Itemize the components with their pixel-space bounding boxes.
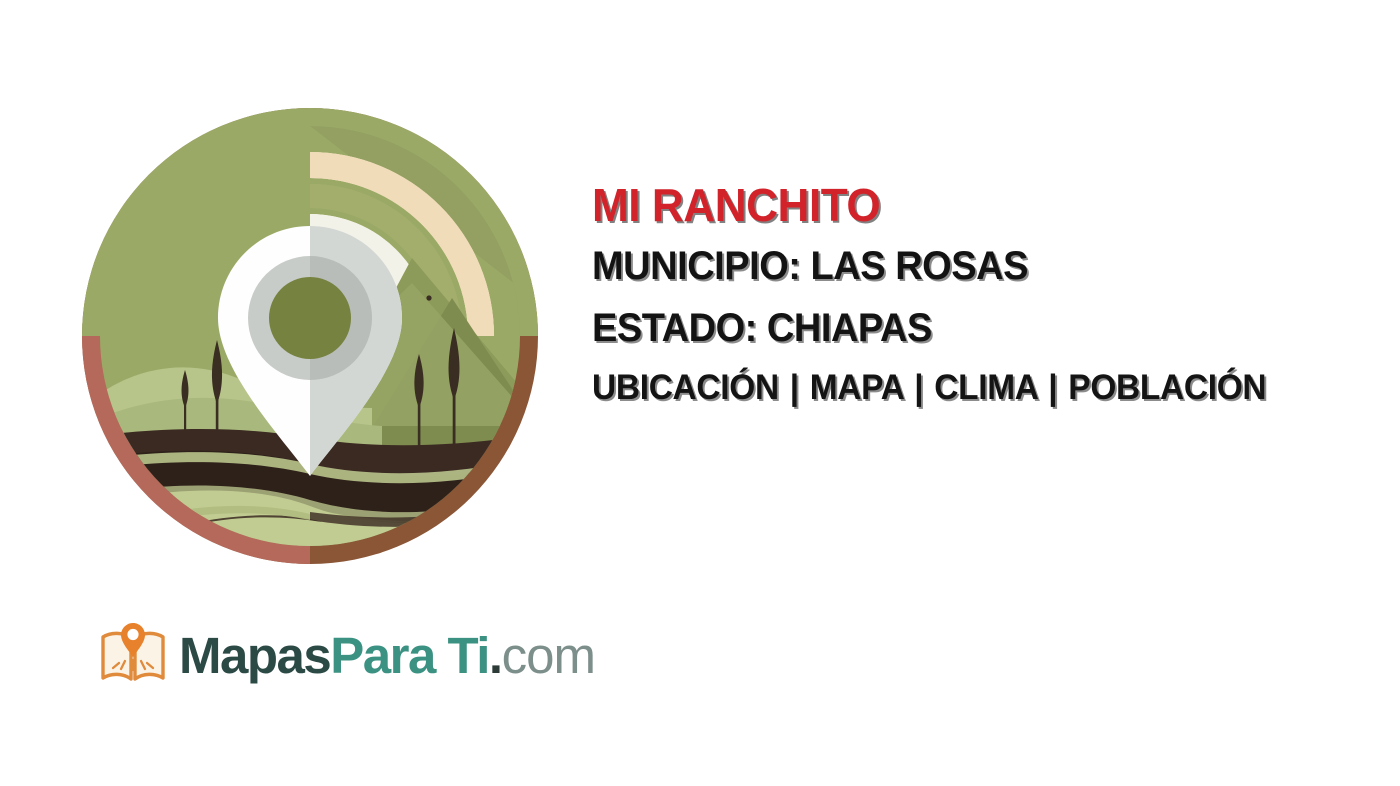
nav-link-ubicacion[interactable]: UBICACIÓN: [592, 368, 779, 407]
estado-line: ESTADO: CHIAPAS: [592, 308, 1343, 348]
brand-word-parati: Para Ti: [330, 627, 489, 684]
page-title: MI RANCHITO: [592, 182, 1350, 228]
brand-word-com: com: [502, 627, 595, 684]
rural-landscape-map-pin-emblem: [82, 108, 538, 564]
nav-link-clima[interactable]: CLIMA: [934, 368, 1037, 407]
page-root: MI RANCHITO MUNICIPIO: LAS ROSAS ESTADO:…: [0, 0, 1400, 786]
brand-wordmark[interactable]: MapasPara Ti.com: [179, 630, 595, 681]
nav-separator-2: |: [912, 368, 925, 407]
nav-separator-1: |: [788, 368, 801, 407]
nav-link-poblacion[interactable]: POBLACIÓN: [1068, 368, 1266, 407]
site-brand-logo[interactable]: MapasPara Ti.com: [97, 617, 595, 689]
section-nav-links: UBICACIÓN | MAPA | CLIMA | POBLACIÓN: [592, 370, 1346, 405]
municipio-line: MUNICIPIO: LAS ROSAS: [592, 246, 1343, 286]
place-info-block: MI RANCHITO MUNICIPIO: LAS ROSAS ESTADO:…: [592, 182, 1382, 405]
emblem-bird-dot: [426, 295, 431, 300]
brand-word-dot: .: [489, 627, 502, 684]
nav-link-mapa[interactable]: MAPA: [810, 368, 904, 407]
nav-separator-3: |: [1046, 368, 1059, 407]
open-book-map-pin-icon: [97, 617, 169, 689]
brand-word-mapas: Mapas: [179, 627, 330, 684]
